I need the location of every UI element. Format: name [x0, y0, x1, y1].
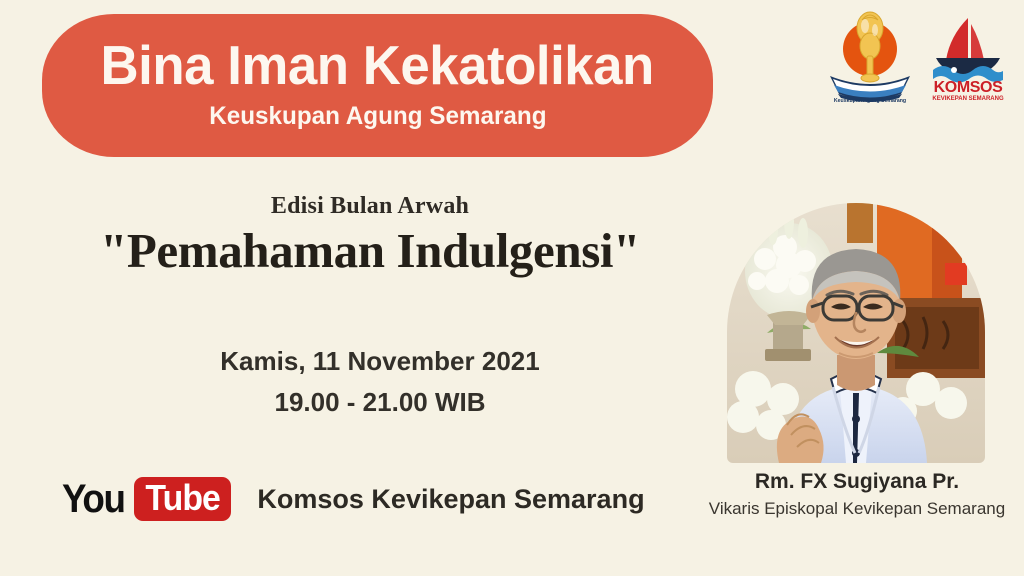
- komsos-logo: KOMSOS KEVIKEPAN SEMARANG: [924, 12, 1012, 104]
- edition-label: Edisi Bulan Arwah: [0, 193, 740, 220]
- youtube-icon[interactable]: You Tube: [62, 476, 231, 522]
- broadcast-channel-row: You Tube Komsos Kevikepan Semarang: [62, 476, 645, 522]
- event-time: 19.00 - 21.00 WIB: [0, 387, 760, 418]
- header-banner: Bina Iman Kekatolikan Keuskupan Agung Se…: [42, 14, 713, 157]
- poster-canvas: Bina Iman Kekatolikan Keuskupan Agung Se…: [0, 0, 1024, 576]
- youtube-wordmark-you: You: [62, 479, 125, 519]
- kas-logo-caption: Keuskupan Agung Semarang: [834, 98, 906, 104]
- speaker-role: Vikaris Episkopal Kevikepan Semarang: [690, 499, 1024, 519]
- banner-subtitle: Keuskupan Agung Semarang: [209, 103, 546, 131]
- komsos-logo-subtitle: KEVIKEPAN SEMARANG: [932, 96, 1004, 102]
- youtube-wordmark-box: Tube: [134, 477, 231, 521]
- youtube-wordmark-tube: Tube: [145, 479, 220, 517]
- logo-group: Keuskupan Agung Semarang KOMSOS KEVIKEPA…: [820, 6, 1016, 110]
- channel-name: Komsos Kevikepan Semarang: [257, 484, 644, 515]
- page-title: "Pemahaman Indulgensi": [0, 222, 740, 279]
- keuskupan-agung-semarang-logo: Keuskupan Agung Semarang: [824, 6, 916, 104]
- komsos-logo-title: KOMSOS: [934, 79, 1003, 96]
- speaker-photo: [727, 203, 985, 463]
- speaker-name: Rm. FX Sugiyana Pr.: [690, 470, 1024, 494]
- event-date: Kamis, 11 November 2021: [0, 346, 760, 377]
- speaker-photo-image: [727, 203, 985, 463]
- banner-title: Bina Iman Kekatolikan: [101, 37, 654, 93]
